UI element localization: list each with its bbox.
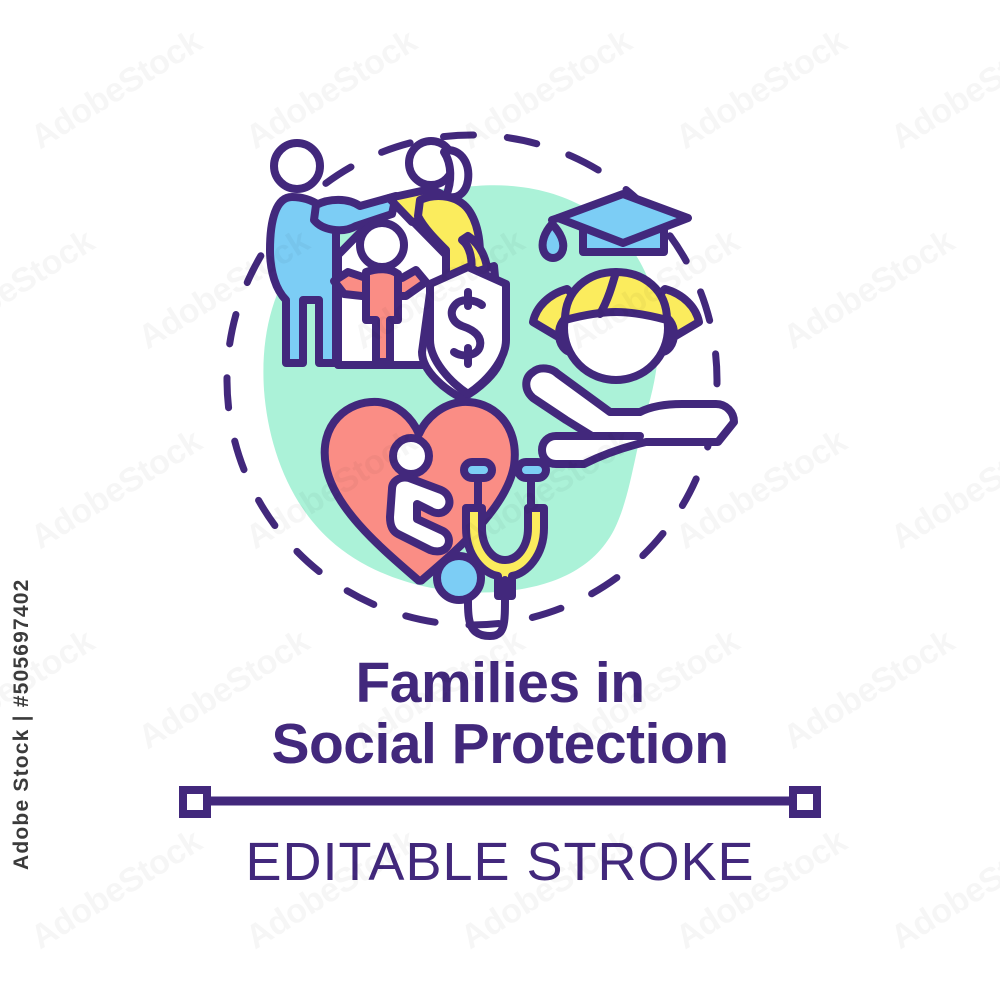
stroke-bar-right-handle[interactable]: [793, 790, 817, 814]
title-line-1: Families in: [355, 651, 644, 715]
title-line-2: Social Protection: [271, 712, 728, 776]
text-layer: Families in Social Protection EDITABLE S…: [0, 0, 1000, 1000]
subtitle-editable-stroke: EDITABLE STROKE: [245, 832, 754, 892]
stroke-bar-left-handle[interactable]: [183, 790, 207, 814]
stroke-bar[interactable]: [183, 790, 817, 814]
concept-icon-canvas: Families in Social Protection EDITABLE S…: [0, 0, 1000, 1000]
